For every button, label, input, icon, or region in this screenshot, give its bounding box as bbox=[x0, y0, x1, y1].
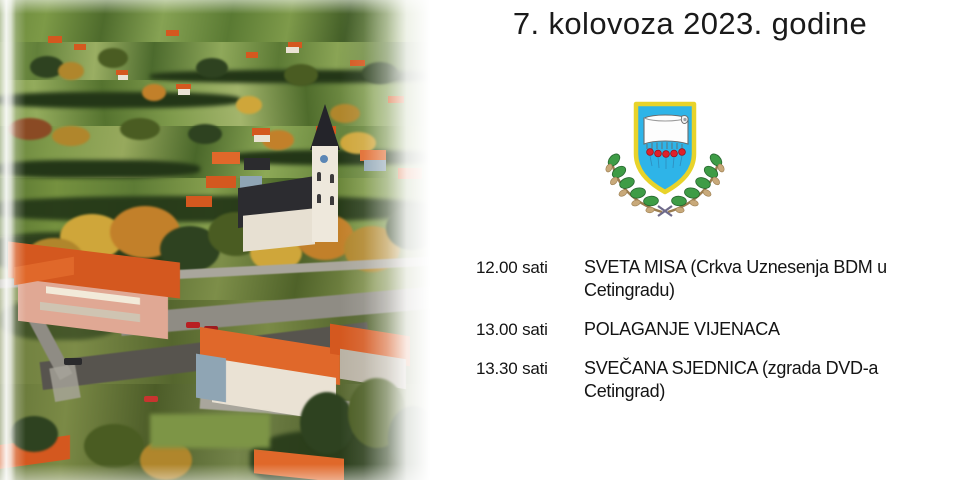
schedule-row: 12.00 sati SVETA MISA (Crkva Uznesenja B… bbox=[476, 256, 896, 302]
house bbox=[166, 30, 179, 36]
schedule-description: SVETA MISA (Crkva Uznesenja BDM u Ceting… bbox=[584, 256, 896, 302]
tree bbox=[120, 118, 160, 140]
schedule-time: 12.00 sati bbox=[476, 256, 584, 279]
house bbox=[178, 88, 190, 95]
photo-fade-right bbox=[340, 0, 430, 480]
tree bbox=[188, 124, 222, 144]
schedule-row: 13.00 sati POLAGANJE VIJENACA bbox=[476, 318, 896, 341]
schedule-row: 13.30 sati SVEČANA SJEDNICA (zgrada DVD-… bbox=[476, 357, 896, 403]
tree bbox=[58, 62, 84, 80]
poster-canvas: 7. kolovoza 2023. godine bbox=[0, 0, 960, 480]
church-window bbox=[317, 194, 321, 203]
car bbox=[64, 358, 82, 365]
tree bbox=[52, 126, 90, 146]
tree bbox=[98, 48, 128, 68]
house bbox=[286, 47, 299, 53]
schedule-description: POLAGANJE VIJENACA bbox=[584, 318, 896, 341]
church-window bbox=[330, 196, 334, 205]
tree bbox=[236, 96, 262, 114]
schedule-time: 13.30 sati bbox=[476, 357, 584, 380]
church-clock-face bbox=[320, 155, 328, 163]
tree bbox=[84, 424, 144, 468]
car bbox=[144, 396, 158, 402]
church-nave-wall bbox=[243, 208, 315, 252]
house bbox=[246, 52, 258, 58]
church-window bbox=[317, 172, 321, 181]
house bbox=[254, 135, 270, 142]
tree bbox=[196, 58, 228, 78]
house bbox=[186, 196, 212, 207]
apartment-wall-side bbox=[196, 354, 226, 403]
aerial-photo bbox=[0, 0, 430, 480]
aerial-photo-panel bbox=[0, 0, 430, 480]
schedule-list: 12.00 sati SVETA MISA (Crkva Uznesenja B… bbox=[476, 256, 896, 403]
house bbox=[244, 158, 270, 170]
house bbox=[48, 36, 62, 43]
coat-of-arms-icon bbox=[600, 88, 730, 218]
house bbox=[206, 176, 236, 188]
schedule-time: 13.00 sati bbox=[476, 318, 584, 341]
house bbox=[212, 152, 240, 164]
car bbox=[186, 322, 200, 328]
house bbox=[116, 70, 128, 75]
photo-haze-left bbox=[0, 0, 26, 480]
schedule-description: SVEČANA SJEDNICA (zgrada DVD-a Cetingrad… bbox=[584, 357, 896, 403]
page-title: 7. kolovoza 2023. godine bbox=[440, 6, 940, 42]
house bbox=[176, 84, 191, 89]
coat-of-arms bbox=[600, 88, 730, 218]
scroll-seal bbox=[683, 118, 686, 121]
hedgerow bbox=[0, 160, 200, 178]
church-window bbox=[330, 174, 334, 183]
church-steeple bbox=[310, 104, 340, 150]
crosswalk bbox=[49, 364, 81, 402]
hedgerow bbox=[0, 92, 240, 108]
tree bbox=[142, 84, 166, 101]
lawn bbox=[150, 414, 270, 448]
tree bbox=[284, 64, 318, 86]
house bbox=[74, 44, 86, 50]
